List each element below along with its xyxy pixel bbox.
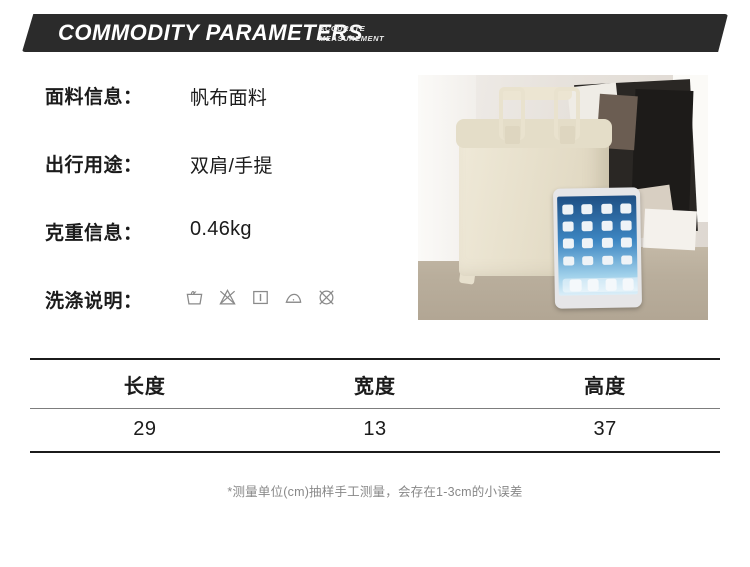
photo-tablet [553, 187, 642, 309]
do-not-bleach-icon [218, 288, 237, 307]
column-header-length: 长度 [30, 359, 260, 409]
photo-tablet-app-grid [563, 203, 633, 265]
spec-label-fabric: 面料信息： [45, 82, 143, 109]
banner-subtitle-line2: MEASUREMENT [319, 34, 384, 44]
hand-wash-icon [185, 288, 204, 307]
iron-icon [284, 288, 303, 307]
column-header-height: 高度 [490, 359, 720, 409]
specification-list: 面料信息： 帆布面料 出行用途： 双肩/手提 克重信息： 0.46kg 洗涤说明… [45, 82, 395, 354]
cell-width-value: 13 [260, 409, 490, 453]
photo-bag-tab-left [505, 126, 520, 143]
cell-height-value: 37 [490, 409, 720, 453]
photo-bag-top [456, 119, 613, 148]
dimensions-table: 长度 宽度 高度 29 13 37 [30, 358, 720, 453]
care-symbol-group [185, 288, 336, 307]
page-title: COMMODITY PARAMETERS [58, 20, 363, 46]
do-not-dry-clean-icon [317, 288, 336, 307]
banner-subtitle: ACCURATE MEASUREMENT [319, 24, 384, 43]
measurement-note: *测量单位(cm)抽样手工测量，会存在1-3cm的小误差 [0, 481, 750, 500]
spec-value-usage: 双肩/手提 [190, 151, 273, 178]
spec-value-fabric: 帆布面料 [190, 83, 267, 110]
spec-row-fabric: 面料信息： 帆布面料 [45, 82, 395, 150]
column-header-width: 宽度 [260, 359, 490, 409]
photo-tablet-dock [563, 277, 638, 292]
spec-label-weight: 克重信息： [45, 218, 143, 245]
drip-dry-icon [251, 288, 270, 307]
spec-row-usage: 出行用途： 双肩/手提 [45, 150, 395, 218]
spec-row-washing: 洗涤说明： [45, 286, 395, 354]
header-banner: COMMODITY PARAMETERS ACCURATE MEASUREMEN… [22, 14, 728, 52]
spec-label-washing: 洗涤说明： [45, 286, 143, 313]
product-photo [418, 75, 708, 320]
banner-subtitle-line1: ACCURATE [319, 24, 384, 34]
photo-bag-tab-right [560, 126, 575, 143]
spec-label-usage: 出行用途： [45, 150, 143, 177]
cell-length-value: 29 [30, 409, 260, 453]
spec-value-weight: 0.46kg [190, 218, 252, 241]
photo-tablet-screen [558, 195, 638, 295]
table-row: 29 13 37 [30, 409, 720, 453]
spec-row-weight: 克重信息： 0.46kg [45, 218, 395, 286]
photo-background-paper-d [643, 208, 697, 250]
table-header-row: 长度 宽度 高度 [30, 359, 720, 409]
